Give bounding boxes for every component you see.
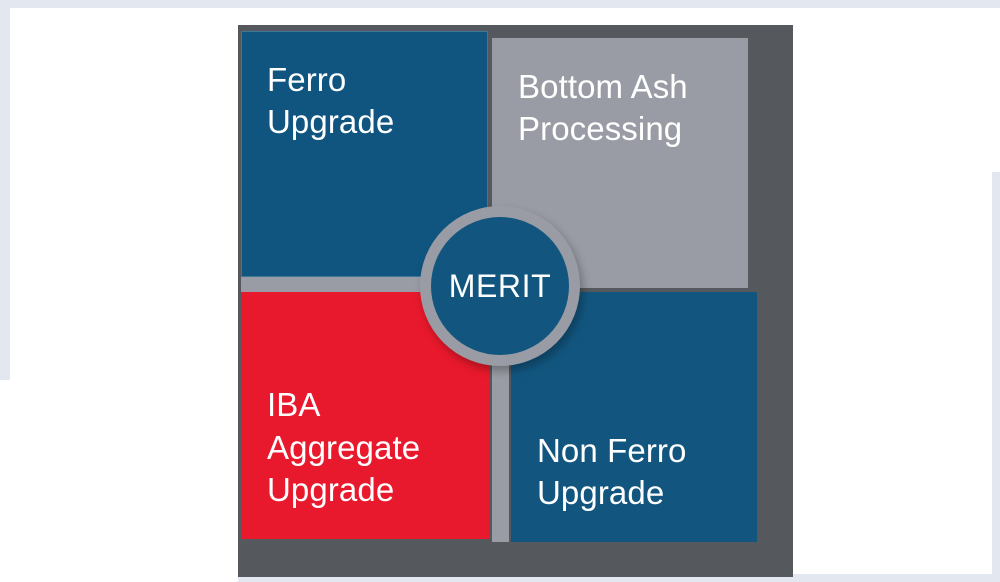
page-canvas: Ferro Upgrade Bottom Ash Processing IBA …: [0, 0, 1000, 582]
quadrant-diagram: Ferro Upgrade Bottom Ash Processing IBA …: [0, 0, 1000, 582]
quadrant-label-bottom-ash-processing: Bottom Ash Processing: [518, 66, 688, 150]
diagram-center-hub[interactable]: MERIT: [420, 206, 580, 366]
quadrant-label-non-ferro-upgrade: Non Ferro Upgrade: [537, 430, 686, 514]
quadrant-label-ferro-upgrade: Ferro Upgrade: [267, 59, 394, 143]
quadrant-label-iba-aggregate-upgrade: IBA Aggregate Upgrade: [267, 384, 464, 511]
diagram-center-hub-label: MERIT: [449, 268, 552, 305]
